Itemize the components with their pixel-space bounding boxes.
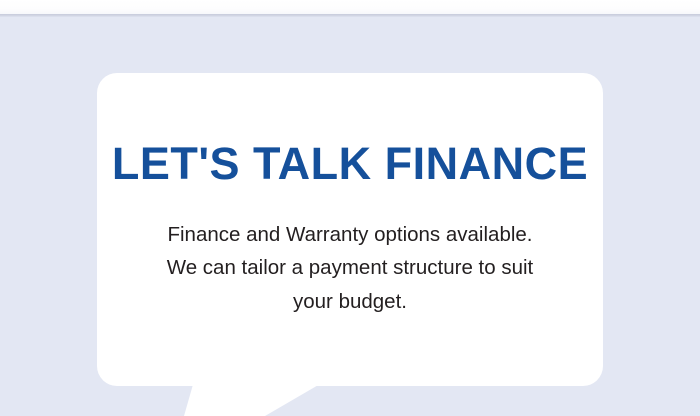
- bubble-body-line-2: We can tailor a payment structure to sui…: [167, 251, 534, 284]
- speech-bubble-content: LET'S TALK FINANCE Finance and Warranty …: [97, 73, 603, 386]
- bubble-body-line-1: Finance and Warranty options available.: [167, 218, 534, 251]
- bubble-body-text: Finance and Warranty options available. …: [167, 218, 534, 318]
- page-title: LET'S TALK FINANCE: [112, 141, 588, 186]
- speech-bubble: LET'S TALK FINANCE Finance and Warranty …: [0, 0, 700, 416]
- promo-banner-canvas: LET'S TALK FINANCE Finance and Warranty …: [0, 0, 700, 416]
- bubble-body-line-3: your budget.: [167, 285, 534, 318]
